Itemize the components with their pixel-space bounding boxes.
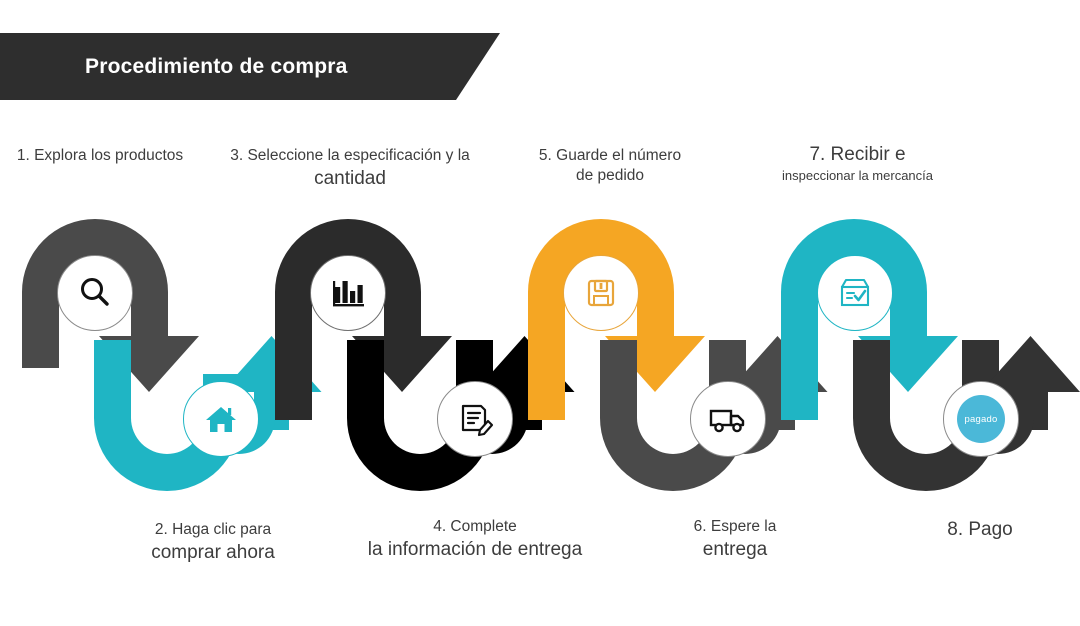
step-label-1: 1. Explora los productos	[0, 146, 200, 166]
step-node-6[interactable]	[690, 381, 766, 457]
floppy-save-icon	[581, 273, 621, 313]
search-icon	[75, 273, 115, 313]
step-node-4[interactable]	[437, 381, 513, 457]
home-icon	[201, 399, 241, 439]
step-node-8[interactable]: pagado	[943, 381, 1019, 457]
step-label-7: 7. Recibir e inspeccionar la mercancía	[745, 142, 970, 184]
paid-stamp-label: pagado	[965, 414, 998, 425]
document-edit-icon	[454, 398, 496, 440]
step-label-5: 5. Guarde el número de pedido	[490, 146, 730, 187]
step-label-2: 2. Haga clic para comprar ahora	[108, 520, 318, 566]
delivery-truck-icon	[707, 398, 749, 440]
step-label-6: 6. Espere la entrega	[645, 517, 825, 563]
step-node-2[interactable]	[183, 381, 259, 457]
box-check-icon	[834, 272, 876, 314]
step-node-5[interactable]	[563, 255, 639, 331]
step-label-4: 4. Complete la información de entrega	[350, 517, 600, 563]
step-node-3[interactable]	[310, 255, 386, 331]
infographic-canvas: Procedimiento de compra	[0, 0, 1080, 626]
paid-stamp-icon: pagado	[957, 395, 1005, 443]
step-node-1[interactable]	[57, 255, 133, 331]
step-label-8: 8. Pago	[890, 517, 1070, 542]
bar-chart-icon	[328, 273, 368, 313]
step-node-7[interactable]	[817, 255, 893, 331]
step-label-3: 3. Seleccione la especificación y la can…	[215, 146, 485, 192]
